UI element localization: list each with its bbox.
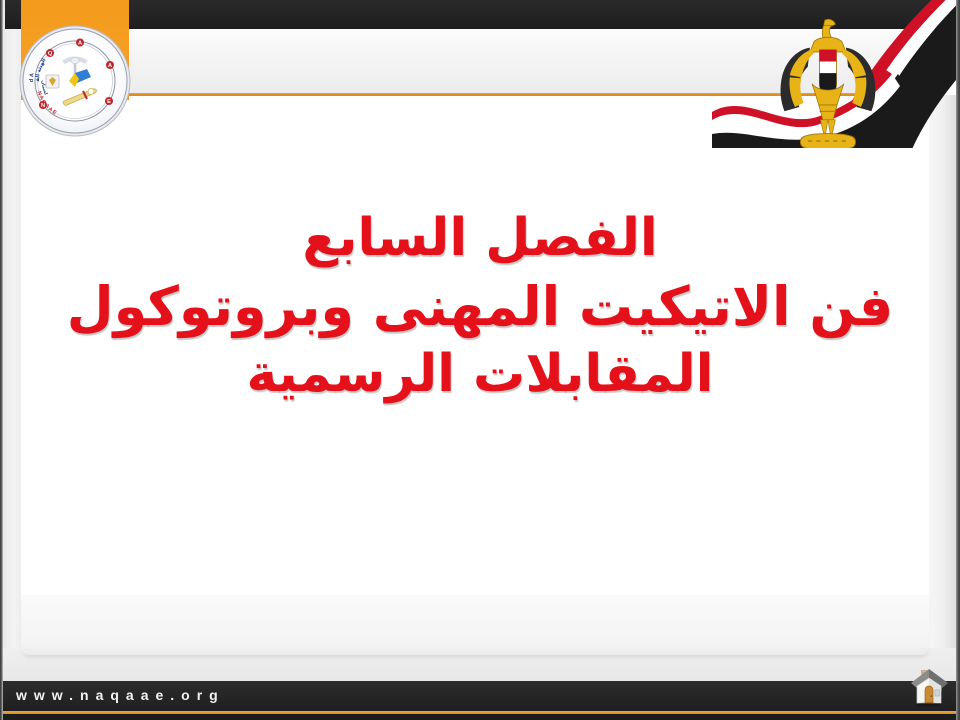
slide-title: الفصل السابع فن الاتيكيت المهنى وبروتوكو…	[60, 205, 900, 407]
svg-text:N: N	[41, 103, 45, 109]
svg-text:A: A	[78, 41, 82, 47]
title-line-1: الفصل السابع	[60, 205, 900, 272]
slide-right-border	[956, 0, 960, 720]
right-gutter	[928, 95, 956, 680]
header-light-panel	[21, 29, 929, 95]
naqaae-logo: National Authority for Quality Assurance…	[17, 17, 133, 140]
svg-text:A: A	[108, 63, 112, 69]
svg-text:Q: Q	[48, 51, 53, 57]
house-icon	[911, 669, 948, 707]
header-accent-rule	[21, 93, 927, 96]
title-line-2: فن الاتيكيت المهنى وبروتوكول	[60, 272, 900, 341]
svg-text:E: E	[107, 99, 111, 105]
presentation-slide: National Authority for Quality Assurance…	[0, 0, 960, 720]
footer-base	[3, 714, 956, 720]
panel-bottom-shade	[21, 595, 929, 655]
title-line-3: المقابلات الرسمية	[60, 341, 900, 408]
footer-website-url: www.naqaae.org	[16, 687, 225, 703]
footer-accent-rule	[3, 711, 956, 714]
home-button[interactable]	[908, 664, 950, 708]
header-band	[5, 0, 956, 29]
slide-left-border	[0, 0, 3, 720]
